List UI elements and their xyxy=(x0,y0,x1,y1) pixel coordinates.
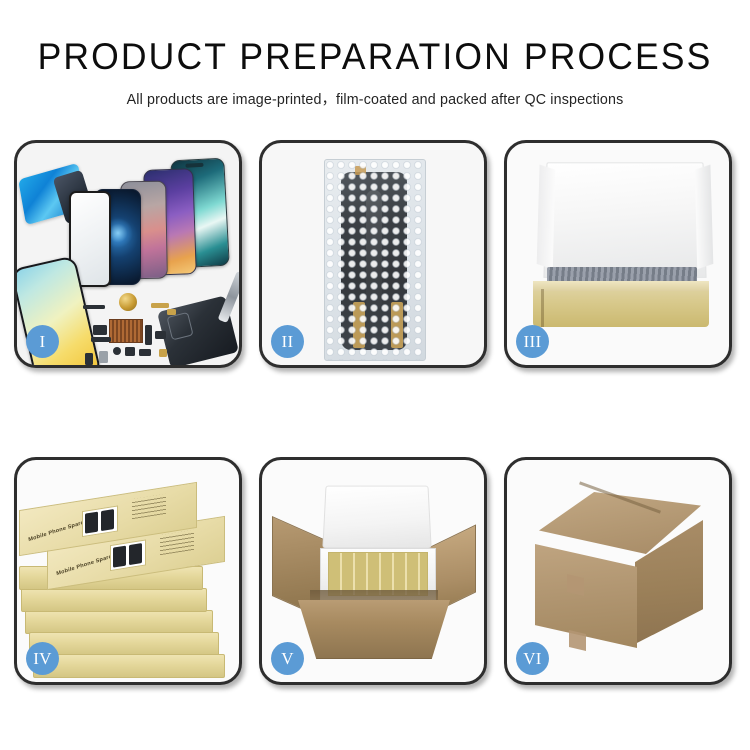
process-step-1: I xyxy=(14,140,242,368)
step-badge-2: II xyxy=(271,325,304,358)
page-title: PRODUCT PREPARATION PROCESS xyxy=(15,38,735,77)
step-badge-6: VI xyxy=(516,642,549,675)
part-icon xyxy=(99,351,108,363)
part-icon xyxy=(159,349,167,357)
box-artwork-icon xyxy=(110,539,146,571)
carton-tape-icon xyxy=(567,574,584,596)
carton-front-icon xyxy=(535,544,637,648)
part-icon xyxy=(145,325,152,345)
process-step-6: VI xyxy=(504,457,732,685)
part-icon xyxy=(167,309,176,315)
logic-board-icon xyxy=(109,319,143,343)
part-icon xyxy=(93,325,107,335)
process-step-grid: I II III xyxy=(14,140,736,685)
step-badge-5: V xyxy=(271,642,304,675)
retail-box-icon xyxy=(25,610,213,634)
part-icon xyxy=(151,303,169,308)
speaker-part-icon xyxy=(119,293,137,311)
retail-box-icon xyxy=(21,588,207,612)
product-preparation-infographic: PRODUCT PREPARATION PROCESS All products… xyxy=(0,0,750,750)
carton-tape-icon xyxy=(569,630,586,651)
step-badge-1: I xyxy=(26,325,59,358)
process-step-5: V xyxy=(259,457,487,685)
foam-lid-icon xyxy=(322,486,431,549)
retail-box-icon xyxy=(533,289,709,327)
spare-parts-cluster xyxy=(83,291,195,365)
box-spec-text-icon xyxy=(132,494,166,519)
part-icon xyxy=(139,349,151,356)
step-badge-4: IV xyxy=(26,642,59,675)
bubble-wrap-bag-icon xyxy=(324,159,426,361)
carton-body-icon xyxy=(298,600,450,659)
bubble-texture xyxy=(325,160,425,360)
retail-box-icon xyxy=(33,654,225,678)
box-artwork-icon xyxy=(82,505,118,537)
part-icon xyxy=(113,347,121,355)
step-badge-3: III xyxy=(516,325,549,358)
part-icon xyxy=(91,337,111,342)
process-step-3: III xyxy=(504,140,732,368)
part-icon xyxy=(155,331,166,339)
part-icon xyxy=(85,353,93,365)
part-icon xyxy=(83,305,105,309)
page-subtitle: All products are image-printed，film-coat… xyxy=(6,88,745,109)
process-step-2: II xyxy=(259,140,487,368)
process-step-4: Mobile Phone Spare Parts Mobile Phone Sp… xyxy=(14,457,242,685)
box-spec-text-icon xyxy=(160,530,194,555)
header: PRODUCT PREPARATION PROCESS All products… xyxy=(0,0,750,109)
foam-lid-icon xyxy=(543,162,706,278)
part-icon xyxy=(125,347,135,356)
